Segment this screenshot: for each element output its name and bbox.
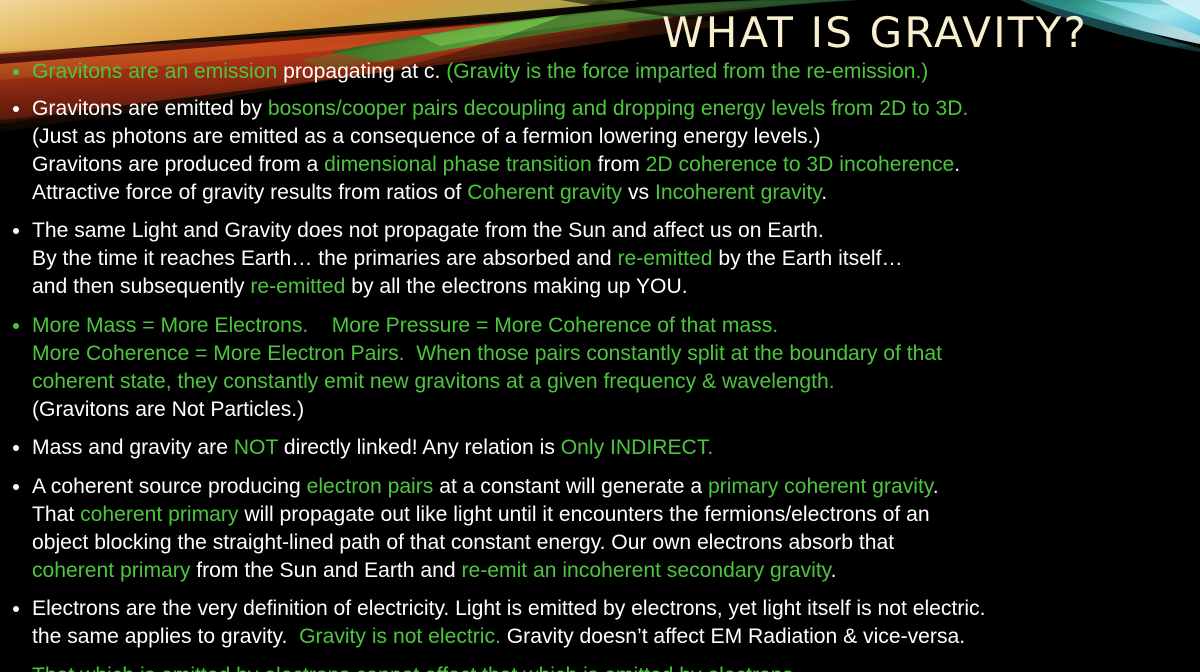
bullet-item: Electrons are the very definition of ele… [0, 595, 1200, 651]
body-text: from the Sun and Earth and [196, 559, 461, 582]
bullet-line: coherent primary from the Sun and Earth … [32, 557, 1200, 585]
body-text: (Gravitons are Not Particles.) [32, 398, 304, 421]
highlight-text: That which is emitted by electrons canno… [32, 664, 799, 672]
bullet-marker-icon [13, 484, 19, 490]
highlight-text: bosons/cooper pairs decoupling and dropp… [268, 97, 969, 120]
body-text: vs [628, 181, 655, 204]
highlight-text: Gravity is not electric. [299, 625, 507, 648]
bullet-line: That coherent primary will propagate out… [32, 501, 1200, 529]
body-text: . [831, 559, 837, 582]
highlight-text: NOT [234, 436, 284, 459]
highlight-text: re-emitted [250, 275, 351, 298]
bullet-item: Gravitons are emitted by bosons/cooper p… [0, 95, 1200, 207]
slide-canvas: WHAT IS GRAVITY? Gravitons are an emissi… [0, 0, 1200, 672]
bullet-line: Electrons are the very definition of ele… [32, 595, 1200, 623]
body-text: Gravity doesn’t affect EM Radiation & vi… [507, 625, 965, 648]
highlight-text: 2D coherence to 3D incoherence [646, 153, 955, 176]
highlight-text: Coherent gravity [467, 181, 628, 204]
bullet-marker-icon [13, 106, 19, 112]
bullet-line: The same Light and Gravity does not prop… [32, 217, 1200, 245]
body-text: by all the electrons making up YOU. [351, 275, 687, 298]
bullet-marker-icon [13, 445, 19, 451]
bullet-line: Mass and gravity are NOT directly linked… [32, 434, 1200, 462]
body-text: A coherent source producing [32, 475, 307, 498]
highlight-text: coherent primary [32, 559, 196, 582]
highlight-text: coherent primary [80, 503, 244, 526]
body-text: By the time it reaches Earth… the primar… [32, 247, 618, 270]
bullet-line: By the time it reaches Earth… the primar… [32, 245, 1200, 273]
bullet-line: Gravitons are an emission propagating at… [32, 58, 1200, 86]
body-text: Electrons are the very definition of ele… [32, 597, 985, 620]
body-text: object blocking the straight-lined path … [32, 531, 894, 554]
bullet-marker-icon [13, 228, 19, 234]
page-title: WHAT IS GRAVITY? [662, 8, 1088, 57]
highlight-text: Only INDIRECT. [561, 436, 713, 459]
highlight-text: Gravitons are an emission [32, 60, 283, 83]
bullet-line: (Gravitons are Not Particles.) [32, 396, 1200, 424]
body-text: and then subsequently [32, 275, 250, 298]
bullet-item: That which is emitted by electrons canno… [0, 662, 1200, 672]
bullet-line: Attractive force of gravity results from… [32, 179, 1200, 207]
body-text: will propagate out like light until it e… [244, 503, 929, 526]
bullet-marker-icon [13, 606, 19, 612]
body-text: directly linked! Any relation is [284, 436, 561, 459]
highlight-text: Incoherent gravity [655, 181, 821, 204]
bullet-list: Gravitons are an emission propagating at… [0, 58, 1200, 672]
bullet-line: object blocking the straight-lined path … [32, 529, 1200, 557]
bullet-line: Gravitons are emitted by bosons/cooper p… [32, 95, 1200, 123]
body-text: . [933, 475, 939, 498]
bullet-item: Mass and gravity are NOT directly linked… [0, 434, 1200, 462]
bullet-line: (Just as photons are emitted as a conseq… [32, 123, 1200, 151]
body-text: by the Earth itself… [718, 247, 902, 270]
body-text: Mass and gravity are [32, 436, 234, 459]
bullet-line: the same applies to gravity. Gravity is … [32, 623, 1200, 651]
bullet-line: coherent state, they constantly emit new… [32, 368, 1200, 396]
bullet-line: That which is emitted by electrons canno… [32, 662, 1200, 672]
body-text: Attractive force of gravity results from… [32, 181, 467, 204]
bullet-item: A coherent source producing electron pai… [0, 473, 1200, 585]
bullet-line: More Coherence = More Electron Pairs. Wh… [32, 340, 1200, 368]
highlight-text: More Coherence = More Electron Pairs. Wh… [32, 342, 942, 365]
body-text: (Just as photons are emitted as a conseq… [32, 125, 821, 148]
bullet-item: The same Light and Gravity does not prop… [0, 217, 1200, 301]
body-text: That [32, 503, 80, 526]
bullet-marker-icon [13, 323, 19, 329]
highlight-text: re-emitted [618, 247, 719, 270]
body-text: from [598, 153, 646, 176]
body-text: the same applies to gravity. [32, 625, 299, 648]
bullet-line: More Mass = More Electrons. More Pressur… [32, 312, 1200, 340]
highlight-text: dimensional phase transition [324, 153, 597, 176]
body-text: . [821, 181, 827, 204]
bullet-line: Gravitons are produced from a dimensiona… [32, 151, 1200, 179]
bullet-line: and then subsequently re-emitted by all … [32, 273, 1200, 301]
body-text: Gravitons are produced from a [32, 153, 324, 176]
highlight-text: primary coherent gravity [708, 475, 933, 498]
body-text: Gravitons are emitted by [32, 97, 268, 120]
body-text: The same Light and Gravity does not prop… [32, 219, 824, 242]
body-text: at a constant will generate a [439, 475, 708, 498]
bullet-marker-icon [13, 69, 19, 75]
body-text: . [954, 153, 960, 176]
highlight-text: re-emit an incoherent secondary gravity [461, 559, 830, 582]
bullet-item: More Mass = More Electrons. More Pressur… [0, 312, 1200, 424]
body-text: propagating at c. [283, 60, 446, 83]
bullet-line: A coherent source producing electron pai… [32, 473, 1200, 501]
highlight-text: electron pairs [307, 475, 440, 498]
highlight-text: (Gravity is the force imparted from the … [446, 60, 928, 83]
highlight-text: More Mass = More Electrons. More Pressur… [32, 314, 778, 337]
highlight-text: coherent state, they constantly emit new… [32, 370, 835, 393]
bullet-item: Gravitons are an emission propagating at… [0, 58, 1200, 86]
